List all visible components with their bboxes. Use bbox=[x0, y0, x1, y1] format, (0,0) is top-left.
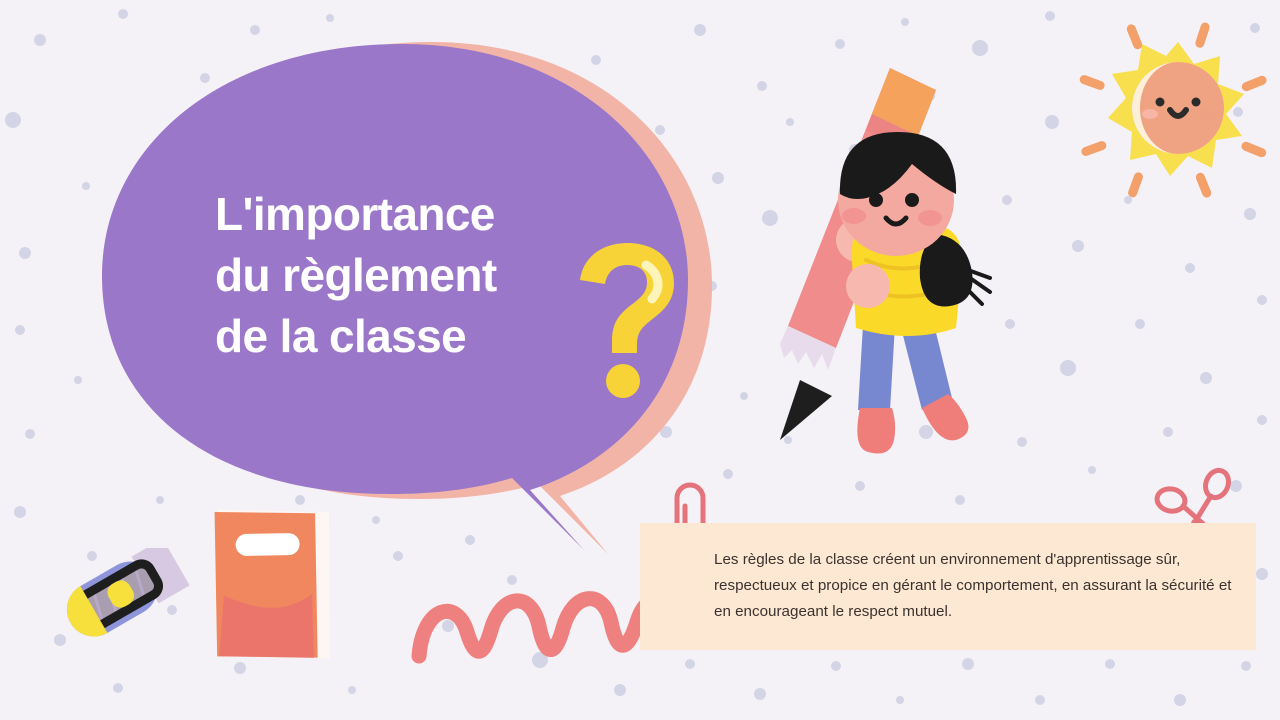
description-text: Les règles de la classe créent un enviro… bbox=[714, 547, 1234, 625]
page-title: L'importance du règlement de la classe bbox=[215, 184, 595, 367]
book-icon bbox=[195, 495, 355, 670]
girl-with-pencil-illustration bbox=[740, 58, 1040, 488]
wavy-squiggle-decoration bbox=[405, 560, 670, 670]
sun-icon bbox=[1078, 8, 1278, 208]
box-cutter-icon bbox=[40, 548, 190, 673]
description-card: Les règles de la classe créent un enviro… bbox=[640, 523, 1256, 650]
slide-canvas: L'importance du règlement de la classe bbox=[0, 0, 1280, 720]
question-mark-icon bbox=[568, 233, 688, 403]
